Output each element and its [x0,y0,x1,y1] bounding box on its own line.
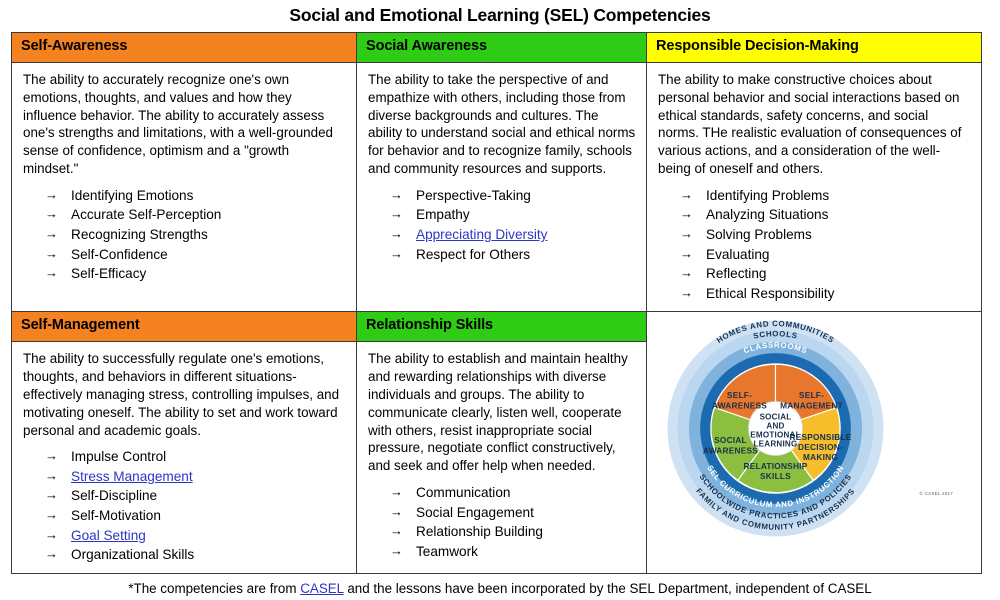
seg-self-management-line-2: MANAGEMENT [780,401,843,411]
table-row: Self-Awareness The ability to accurately… [12,33,982,312]
list-item-label: Perspective-Taking [416,188,531,203]
list-item[interactable]: →Empathy [390,205,636,225]
cell-self-awareness: Self-Awareness The ability to accurately… [12,33,357,312]
list-item[interactable]: →Teamwork [390,542,636,562]
list-item-label: Social Engagement [416,505,534,520]
footnote-suffix: and the lessons have been incorporated b… [344,581,872,596]
list-item-label: Identifying Problems [706,188,829,203]
arrow-icon: → [390,186,403,205]
arrow-icon: → [45,545,58,564]
list-item-label: Communication [416,485,510,500]
casel-copyright: © CASEL 2017 [920,491,953,496]
list-item[interactable]: →Organizational Skills [45,545,346,565]
list-item-label: Self-Efficacy [71,266,146,281]
sel-competencies-page: Social and Emotional Learning (SEL) Comp… [0,0,1000,600]
list-item-label: Self-Confidence [71,247,168,262]
competency-list-self-awareness: →Identifying Emotions →Accurate Self-Per… [23,186,346,284]
list-item[interactable]: →Social Engagement [390,503,636,523]
seg-relationship-skills-line-2: SKILLS [760,471,791,481]
list-item-label: Respect for Others [416,247,530,262]
core-line-1: SOCIAL [760,413,792,422]
arrow-icon: → [390,522,403,541]
list-item[interactable]: →Relationship Building [390,522,636,542]
description-self-management: The ability to successfully regulate one… [23,350,346,439]
list-item-label: Empathy [416,207,470,222]
casel-wheel-container: SOCIAL AND EMOTIONAL LEARNING SELF- AWAR… [647,312,981,548]
arrow-icon: → [680,205,693,224]
cell-self-management: Self-Management The ability to successfu… [12,312,357,573]
arrow-icon: → [45,186,58,205]
seg-self-awareness-line-2: AWARENESS [712,401,767,411]
list-item-label: Self-Discipline [71,488,157,503]
arrow-icon: → [45,467,58,486]
cell-header-relationship-skills: Relationship Skills [357,312,646,342]
page-title: Social and Emotional Learning (SEL) Comp… [0,0,1000,32]
list-item-label: Analyzing Situations [706,207,828,222]
list-item[interactable]: →Communication [390,483,636,503]
list-item[interactable]: →Ethical Responsibility [680,284,971,304]
list-item-label: Evaluating [706,247,769,262]
arrow-icon: → [680,225,693,244]
arrow-icon: → [390,503,403,522]
footnote: *The competencies are from CASEL and the… [0,574,1000,596]
description-social-awareness: The ability to take the perspective of a… [368,71,636,178]
list-item[interactable]: →Analyzing Situations [680,205,971,225]
list-item-label: Identifying Emotions [71,188,193,203]
list-item[interactable]: →Goal Setting [45,526,346,546]
seg-social-awareness-line-2: AWARENESS [703,446,758,456]
arrow-icon: → [680,264,693,283]
list-item[interactable]: →Identifying Problems [680,186,971,206]
list-item-label: Organizational Skills [71,547,194,562]
arrow-icon: → [680,186,693,205]
arrow-icon: → [390,225,403,244]
list-item-label: Self-Motivation [71,508,161,523]
list-item[interactable]: →Self-Efficacy [45,264,346,284]
list-item-label: Reflecting [706,266,766,281]
cell-body-self-management: The ability to successfully regulate one… [12,342,356,573]
arrow-icon: → [45,264,58,283]
list-item-link-goal-setting[interactable]: Goal Setting [71,528,146,543]
cell-casel-wheel: SOCIAL AND EMOTIONAL LEARNING SELF- AWAR… [647,312,982,573]
arrow-icon: → [680,245,693,264]
arrow-icon: → [680,284,693,303]
description-self-awareness: The ability to accurately recognize one'… [23,71,346,178]
list-item[interactable]: →Recognizing Strengths [45,225,346,245]
cell-body-responsible-decision-making: The ability to make constructive choices… [647,63,981,311]
core-line-2: AND [766,422,784,431]
list-item[interactable]: →Stress Management [45,467,346,487]
arrow-icon: → [45,486,58,505]
list-item[interactable]: →Appreciating Diversity [390,225,636,245]
casel-wheel-diagram: SOCIAL AND EMOTIONAL LEARNING SELF- AWAR… [663,316,888,541]
cell-responsible-decision-making: Responsible Decision-Making The ability … [647,33,982,312]
list-item[interactable]: →Respect for Others [390,245,636,265]
list-item[interactable]: →Impulse Control [45,447,346,467]
competency-list-responsible-decision-making: →Identifying Problems →Analyzing Situati… [658,186,971,303]
list-item[interactable]: →Reflecting [680,264,971,284]
cell-body-social-awareness: The ability to take the perspective of a… [357,63,646,272]
arrow-icon: → [390,483,403,502]
seg-relationship-skills-line-1: RELATIONSHIP [744,461,808,471]
arrow-icon: → [390,205,403,224]
seg-self-management-line-1: SELF- [799,390,824,400]
cell-header-social-awareness: Social Awareness [357,33,646,63]
list-item[interactable]: →Self-Motivation [45,506,346,526]
list-item-label: Ethical Responsibility [706,286,834,301]
footnote-link-casel[interactable]: CASEL [300,581,343,596]
description-responsible-decision-making: The ability to make constructive choices… [658,71,971,178]
sel-competencies-table: Self-Awareness The ability to accurately… [11,32,982,574]
cell-header-self-management: Self-Management [12,312,356,342]
cell-body-relationship-skills: The ability to establish and maintain he… [357,342,646,569]
arrow-icon: → [390,542,403,561]
list-item-link-appreciating-diversity[interactable]: Appreciating Diversity [416,227,547,242]
cell-relationship-skills: Relationship Skills The ability to estab… [357,312,647,573]
arrow-icon: → [45,526,58,545]
list-item[interactable]: →Identifying Emotions [45,186,346,206]
arrow-icon: → [390,245,403,264]
cell-body-self-awareness: The ability to accurately recognize one'… [12,63,356,292]
list-item[interactable]: →Solving Problems [680,225,971,245]
seg-rdm-line-1: RESPONSIBLE [789,432,851,442]
description-relationship-skills: The ability to establish and maintain he… [368,350,636,475]
table-row: Self-Management The ability to successfu… [12,312,982,573]
list-item-label: Recognizing Strengths [71,227,208,242]
list-item[interactable]: →Perspective-Taking [390,186,636,206]
cell-header-responsible-decision-making: Responsible Decision-Making [647,33,981,63]
footnote-prefix: *The competencies are from [128,581,300,596]
competency-list-self-management: →Impulse Control →Stress Management →Sel… [23,447,346,564]
seg-self-awareness-line-1: SELF- [727,390,752,400]
seg-social-awareness-line-1: SOCIAL [714,435,747,445]
list-item-label: Teamwork [416,544,478,559]
arrow-icon: → [45,245,58,264]
seg-rdm-line-3: MAKING [803,452,838,462]
list-item-link-stress-management[interactable]: Stress Management [71,469,193,484]
list-item[interactable]: →Self-Confidence [45,245,346,265]
seg-rdm-line-2: DECISION- [798,442,843,452]
arrow-icon: → [45,447,58,466]
list-item[interactable]: →Evaluating [680,245,971,265]
competency-list-social-awareness: →Perspective-Taking →Empathy →Appreciati… [368,186,636,264]
list-item-label: Solving Problems [706,227,812,242]
arrow-icon: → [45,506,58,525]
competency-list-relationship-skills: →Communication →Social Engagement →Relat… [368,483,636,561]
arrow-icon: → [45,205,58,224]
cell-social-awareness: Social Awareness The ability to take the… [357,33,647,312]
arrow-icon: → [45,225,58,244]
cell-header-self-awareness: Self-Awareness [12,33,356,63]
list-item-label: Impulse Control [71,449,166,464]
list-item-label: Relationship Building [416,524,543,539]
list-item[interactable]: →Self-Discipline [45,486,346,506]
list-item-label: Accurate Self-Perception [71,207,221,222]
list-item[interactable]: →Accurate Self-Perception [45,205,346,225]
